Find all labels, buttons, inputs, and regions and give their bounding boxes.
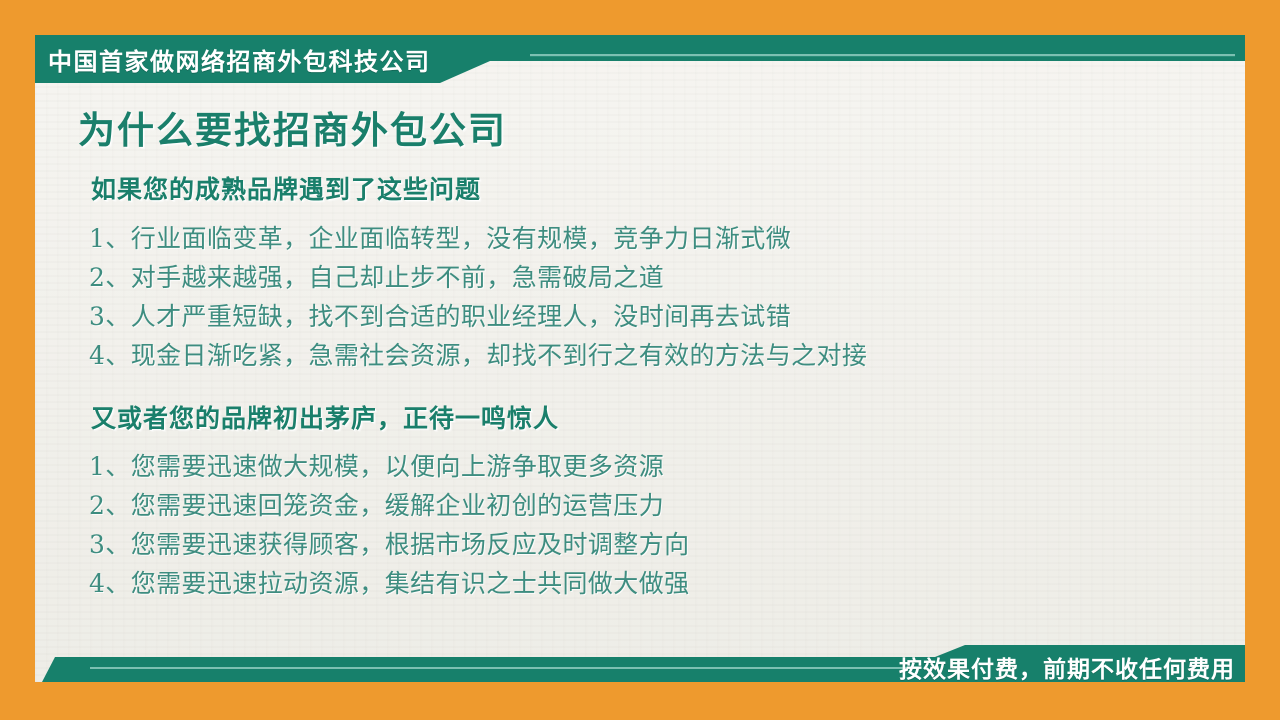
list-item: 4、现金日渐吃紧，急需社会资源，却找不到行之有效的方法与之对接 [89, 336, 1225, 375]
need-list: 1、您需要迅速做大规模，以便向上游争取更多资源 2、您需要迅速回笼资金，缓解企业… [75, 447, 1225, 603]
list-item: 4、您需要迅速拉动资源，集结有识之士共同做大做强 [89, 564, 1225, 603]
section-new-brand: 又或者您的品牌初出茅庐，正待一鸣惊人 1、您需要迅速做大规模，以便向上游争取更多… [75, 403, 1225, 604]
section-heading-1: 如果您的成熟品牌遇到了这些问题 [91, 174, 1225, 207]
footer-tagline: 按效果付费，前期不收任何费用 [899, 650, 1235, 684]
problem-list: 1、行业面临变革，企业面临转型，没有规模，竞争力日渐式微 2、对手越来越强，自己… [75, 219, 1225, 375]
list-item: 3、人才严重短缺，找不到合适的职业经理人，没时间再去试错 [89, 297, 1225, 336]
main-content: 为什么要找招商外包公司 如果您的成熟品牌遇到了这些问题 1、行业面临变革，企业面… [75, 108, 1225, 609]
section-heading-2: 又或者您的品牌初出茅庐，正待一鸣惊人 [91, 403, 1225, 436]
list-item: 3、您需要迅速获得顾客，根据市场反应及时调整方向 [89, 525, 1225, 564]
list-item: 1、行业面临变革，企业面临转型，没有规模，竞争力日渐式微 [89, 219, 1225, 258]
slide-root: 中国首家做网络招商外包科技公司 为什么要找招商外包公司 如果您的成熟品牌遇到了这… [0, 0, 1280, 720]
header-title: 中国首家做网络招商外包科技公司 [48, 42, 431, 77]
list-item: 1、您需要迅速做大规模，以便向上游争取更多资源 [89, 447, 1225, 486]
list-item: 2、对手越来越强，自己却止步不前，急需破局之道 [89, 258, 1225, 297]
list-item: 2、您需要迅速回笼资金，缓解企业初创的运营压力 [89, 486, 1225, 525]
page-title: 为什么要找招商外包公司 [78, 108, 1225, 154]
section-mature-brand: 如果您的成熟品牌遇到了这些问题 1、行业面临变革，企业面临转型，没有规模，竞争力… [75, 174, 1225, 375]
section-spacer [75, 381, 1225, 403]
